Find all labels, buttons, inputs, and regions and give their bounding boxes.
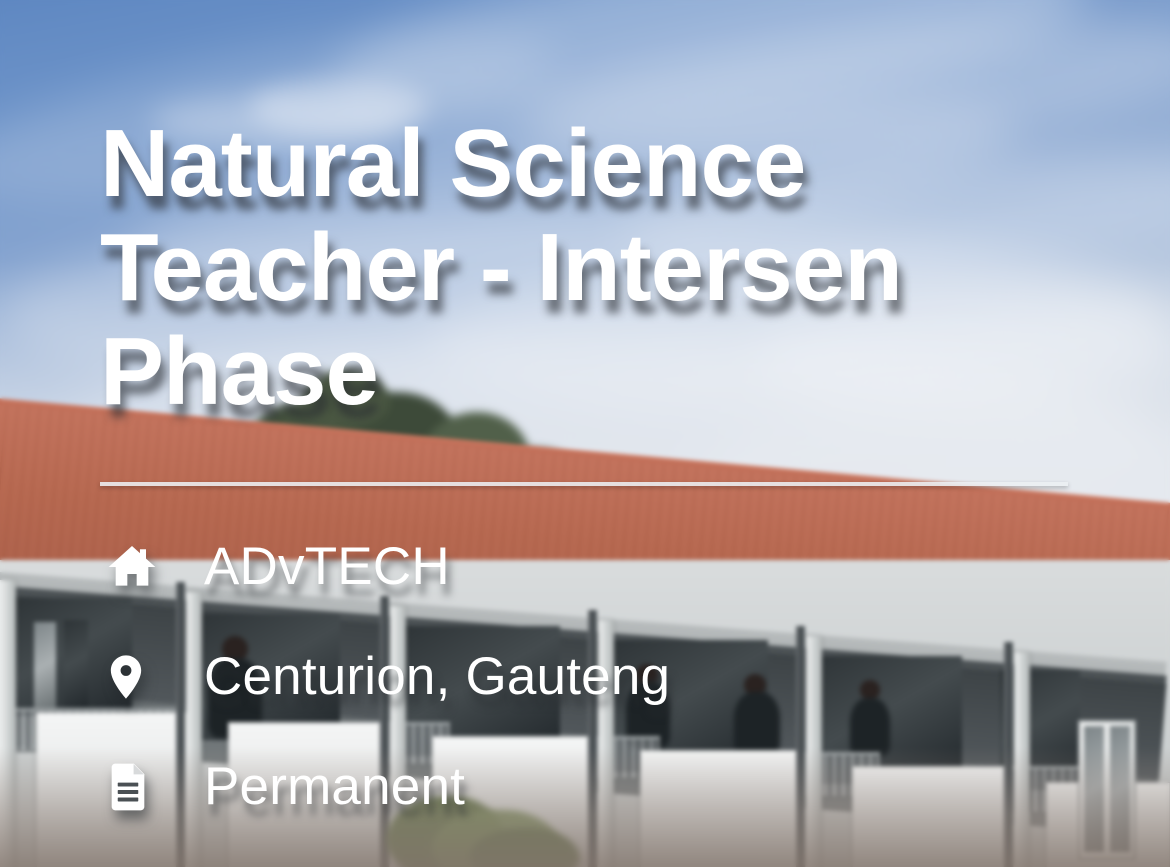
location-pin-icon <box>100 645 172 709</box>
meta-row-company: ADvTECH <box>100 512 1100 622</box>
document-icon <box>100 755 172 819</box>
meta-row-location: Centurion, Gauteng <box>100 622 1100 732</box>
job-meta-list: ADvTECH Centurion, Gauteng <box>100 512 1100 842</box>
home-icon <box>100 535 172 599</box>
company-name: ADvTECH <box>204 539 450 595</box>
hero-content: Natural Science Teacher - Intersen Phase… <box>0 0 1170 867</box>
job-location: Centurion, Gauteng <box>204 649 670 705</box>
hero-divider <box>100 482 1068 486</box>
employment-type: Permanent <box>204 759 465 815</box>
job-hero-banner: Natural Science Teacher - Intersen Phase… <box>0 0 1170 867</box>
job-title: Natural Science Teacher - Intersen Phase <box>100 112 1000 424</box>
meta-row-employment-type: Permanent <box>100 732 1100 842</box>
